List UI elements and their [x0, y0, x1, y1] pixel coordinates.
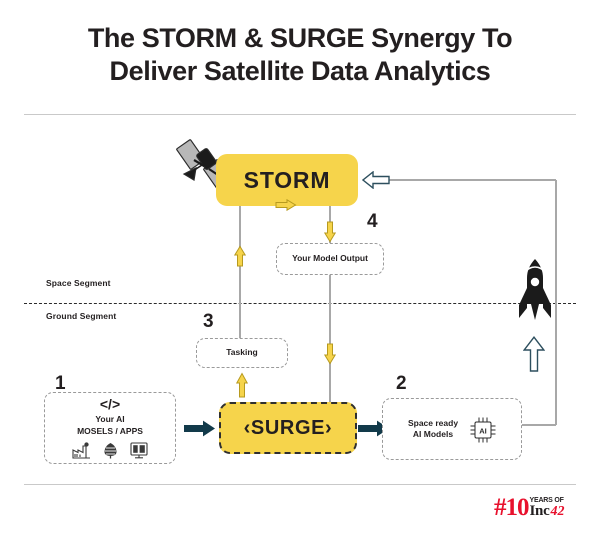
model-output-downlink-arrow-icon: [324, 343, 336, 365]
storm-label: STORM: [244, 167, 331, 194]
tasking-uplink-arrow-icon: [234, 245, 246, 267]
your-ai-apps-label-1: Your AI: [95, 414, 124, 425]
title-line-2: Deliver Satellite Data Analytics: [0, 55, 600, 88]
your-ai-apps-node[interactable]: </> Your AI MOSELS / APPS: [44, 392, 176, 464]
infographic-canvas: The STORM & SURGE Synergy To Deliver Sat…: [0, 0, 600, 536]
inc42-logo: #10 YEARS OF Inc 42: [494, 496, 564, 520]
rocket-icon: [516, 258, 554, 331]
model-output-inflow-arrow-icon: [324, 221, 336, 243]
storm-inflow-arrow-icon: [362, 171, 390, 189]
surge-node[interactable]: ‹SURGE›: [219, 402, 357, 454]
footer-divider: [24, 484, 576, 485]
ai-chip-text: AI: [479, 427, 487, 436]
code-brackets-icon: </>: [100, 397, 120, 411]
ai-chip-icon: AI: [468, 415, 496, 443]
storm-outflow-arrow-icon: [275, 199, 297, 211]
factory-icon: [72, 442, 91, 459]
step-number-4: 4: [367, 211, 378, 233]
space-segment-label: Space Segment: [46, 278, 111, 288]
connector-right-top-horizontal: [388, 179, 556, 181]
page-title: The STORM & SURGE Synergy To Deliver Sat…: [0, 22, 600, 89]
rocket-uplink-arrow-icon: [523, 336, 545, 372]
title-divider: [24, 114, 576, 115]
connector-right-riser: [555, 180, 557, 425]
title-line-1: The STORM & SURGE Synergy To: [0, 22, 600, 55]
monitor-icon: [130, 442, 148, 459]
logo-brand-row: Inc 42: [530, 504, 565, 519]
connector-spaceready-to-riser: [522, 424, 556, 426]
step-number-3: 3: [203, 311, 214, 333]
surge-label: ‹SURGE›: [244, 417, 333, 440]
step-number-2: 2: [396, 373, 407, 395]
space-ready-label-1: Space ready: [408, 418, 458, 429]
space-ready-text: Space ready AI Models: [408, 418, 458, 441]
logo-text-group: YEARS OF Inc 42: [530, 496, 565, 519]
model-output-label: Your Model Output: [292, 253, 368, 264]
ground-segment-label: Ground Segment: [46, 311, 116, 321]
logo-42-label: 42: [550, 505, 564, 519]
segment-divider-line: [24, 303, 576, 304]
your-ai-apps-label-2: MOSELS / APPS: [77, 426, 143, 437]
your-ai-apps-icon-row: [72, 442, 148, 459]
connector-model-output-to-surge: [329, 275, 331, 403]
space-ready-node[interactable]: Space ready AI Models: [382, 398, 522, 460]
surge-to-tasking-arrow-icon: [236, 372, 248, 398]
space-ready-label-2: AI Models: [408, 429, 458, 440]
tasking-label: Tasking: [226, 347, 258, 358]
tasking-node[interactable]: Tasking: [196, 338, 288, 368]
logo-anniversary-number: #10: [494, 496, 529, 520]
model-output-node[interactable]: Your Model Output: [276, 243, 384, 275]
agriculture-icon: [102, 442, 119, 459]
logo-inc-label: Inc: [530, 504, 550, 519]
space-ready-row: Space ready AI Models: [408, 415, 496, 443]
connector-storm-to-tasking: [239, 206, 241, 340]
apps-to-surge-arrow-icon: [184, 420, 216, 437]
